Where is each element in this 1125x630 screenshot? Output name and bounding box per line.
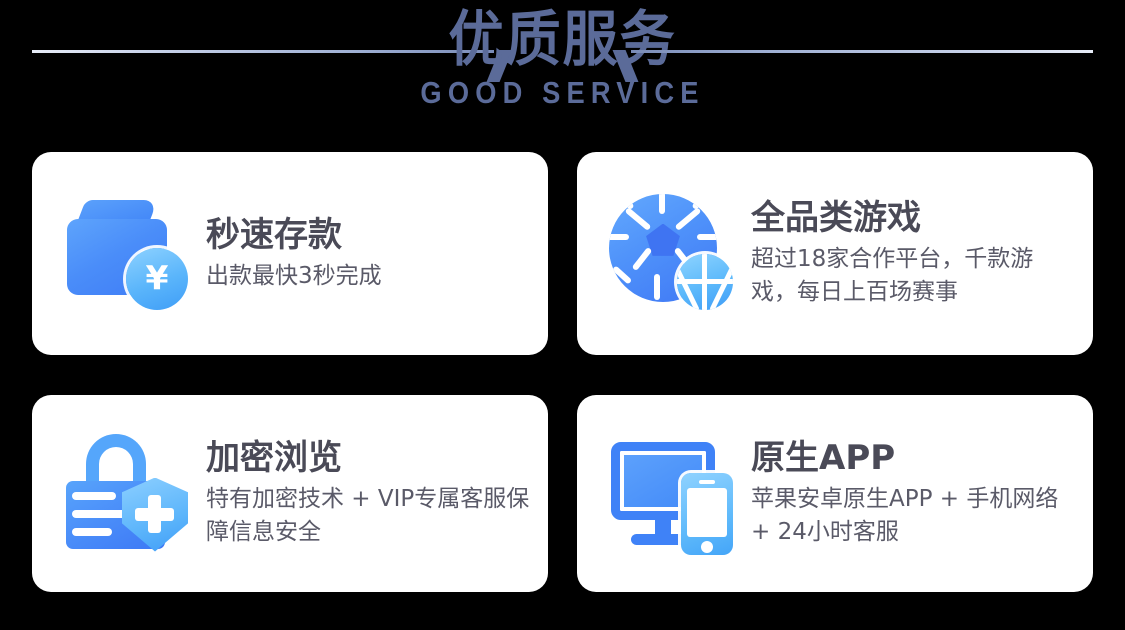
basketball-icon: [677, 254, 733, 310]
feature-card-grid: ¥ 秒速存款 出款最快3秒完成: [32, 152, 1093, 592]
monitor-phone-icon: [605, 426, 741, 562]
wallet-coin-icon: ¥: [60, 186, 196, 322]
monitor-stand-shape: [655, 519, 671, 536]
card-title: 秒速存款: [206, 215, 532, 255]
card-title: 全品类游戏: [751, 198, 1077, 238]
phone-home-button-shape: [701, 541, 713, 553]
card-description: 特有加密技术 + VIP专属客服保障信息安全: [206, 483, 532, 548]
title-block: 优质服务 GOOD SERVICE: [0, 8, 1125, 108]
phone-icon: [681, 473, 733, 555]
card-description: 出款最快3秒完成: [206, 260, 532, 293]
yen-coin-icon: ¥: [126, 248, 188, 310]
page-title: 优质服务: [45, 8, 1080, 73]
plus-icon-bar: [135, 508, 174, 521]
card-text-block: 全品类游戏 超过18家合作平台，千款游戏，每日上百场赛事: [741, 198, 1077, 308]
card-text-block: 加密浏览 特有加密技术 + VIP专属客服保障信息安全: [196, 438, 532, 548]
page-subtitle: GOOD SERVICE: [68, 77, 1058, 108]
feature-card-encrypted-browsing[interactable]: 加密浏览 特有加密技术 + VIP专属客服保障信息安全: [32, 395, 548, 592]
card-title: 加密浏览: [206, 438, 532, 478]
right-decorative-rule: [631, 50, 1093, 53]
feature-card-native-app[interactable]: 原生APP 苹果安卓原生APP + 手机网络 + 24小时客服: [577, 395, 1093, 592]
card-text-block: 秒速存款 出款最快3秒完成: [196, 215, 532, 293]
feature-card-all-category-games[interactable]: 全品类游戏 超过18家合作平台，千款游戏，每日上百场赛事: [577, 152, 1093, 355]
phone-screen-shape: [687, 488, 727, 537]
page-header: 优质服务 GOOD SERVICE: [0, 0, 1125, 146]
lock-shield-icon: [60, 426, 196, 562]
card-text-block: 原生APP 苹果安卓原生APP + 手机网络 + 24小时客服: [741, 438, 1077, 548]
phone-speaker-shape: [699, 480, 715, 484]
feature-card-instant-deposit[interactable]: ¥ 秒速存款 出款最快3秒完成: [32, 152, 548, 355]
card-description: 超过18家合作平台，千款游戏，每日上百场赛事: [751, 243, 1077, 308]
card-title: 原生APP: [751, 438, 1077, 478]
card-description: 苹果安卓原生APP + 手机网络 + 24小时客服: [751, 483, 1077, 548]
yen-symbol: ¥: [146, 261, 169, 294]
soccer-basketball-icon: [605, 186, 741, 322]
